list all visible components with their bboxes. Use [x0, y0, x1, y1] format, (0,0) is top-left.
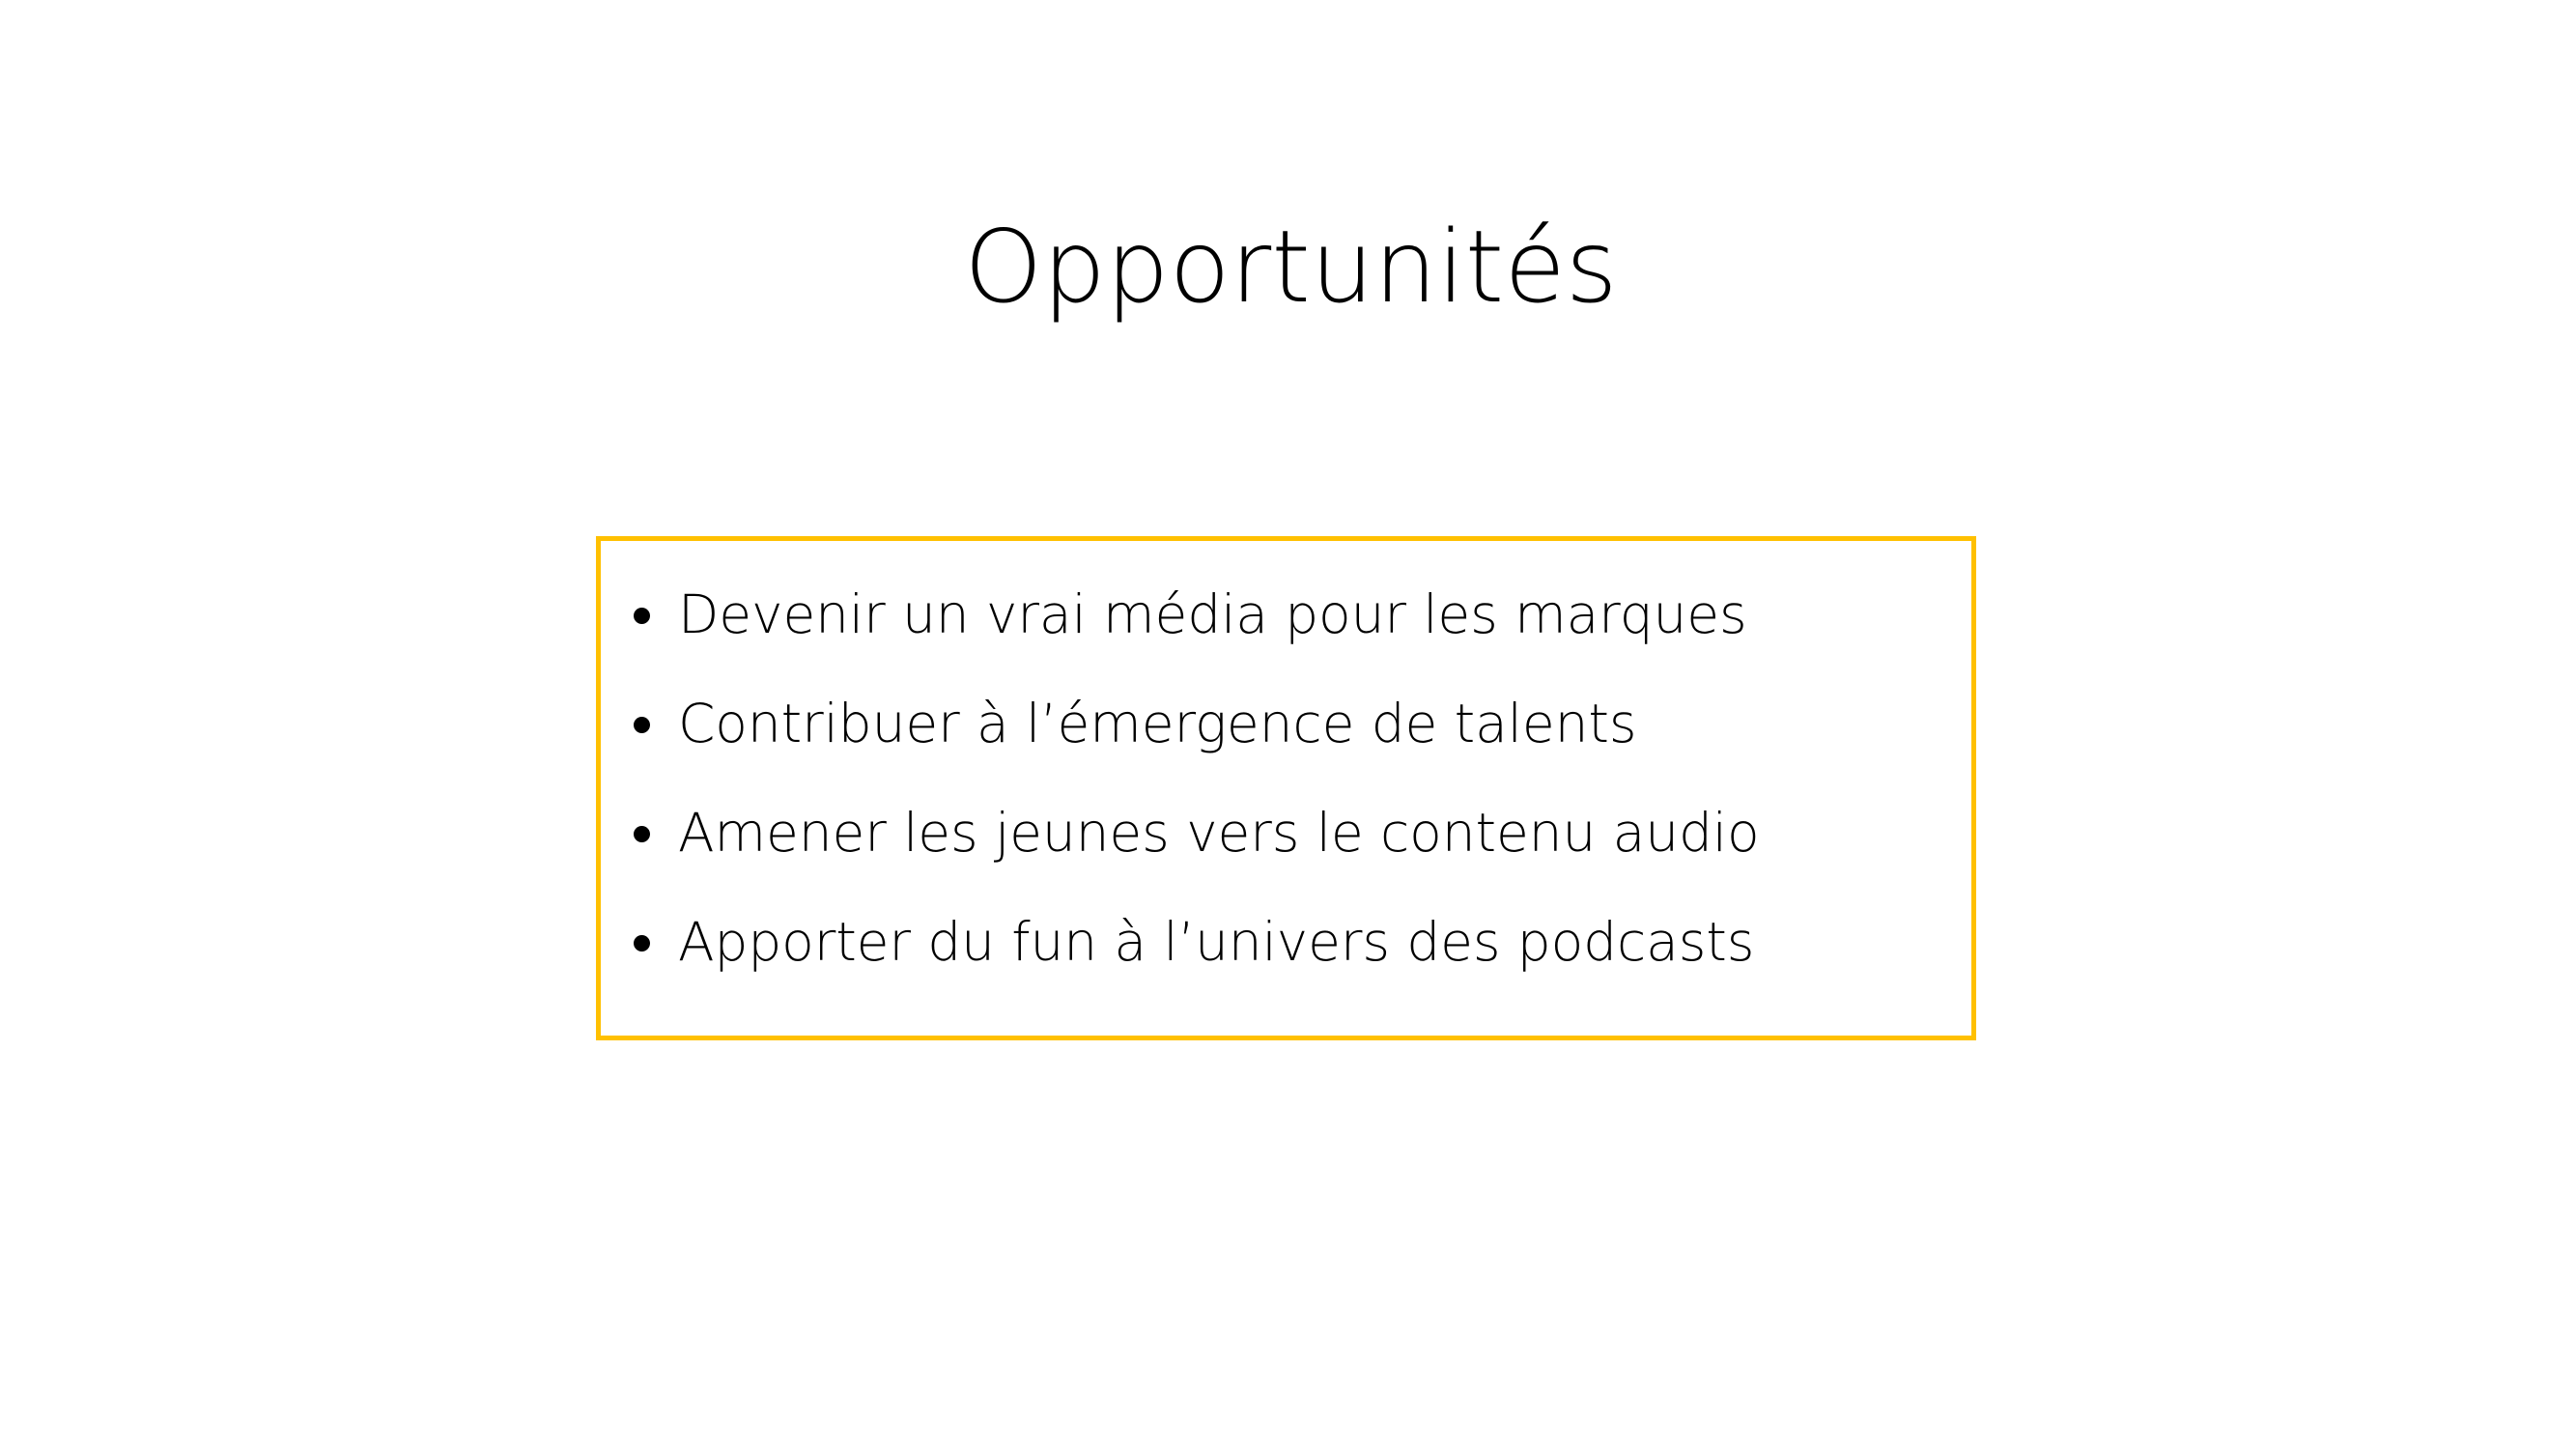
page-title: Opportunités	[3, 210, 2576, 327]
list-item: Amener les jeunes vers le contenu audio	[601, 779, 1971, 888]
list-item-label: Devenir un vrai média pour les marques	[678, 560, 1747, 669]
list-item: Devenir un vrai média pour les marques	[601, 560, 1971, 669]
list-item-label: Amener les jeunes vers le contenu audio	[678, 779, 1760, 888]
bullet-dot-icon	[634, 717, 650, 733]
bullet-dot-icon	[634, 608, 650, 624]
bullet-list: Devenir un vrai média pour les marques C…	[601, 541, 1971, 997]
slide-canvas: Opportunités Devenir un vrai média pour …	[0, 0, 2576, 1449]
list-item-label: Apporter du fun à l’univers des podcasts	[678, 888, 1754, 997]
bulleted-content-box: Devenir un vrai média pour les marques C…	[596, 536, 1976, 1040]
bullet-dot-icon	[634, 826, 650, 842]
bullet-dot-icon	[634, 935, 650, 952]
list-item: Contribuer à l’émergence de talents	[601, 669, 1971, 779]
list-item-label: Contribuer à l’émergence de talents	[678, 669, 1636, 779]
list-item: Apporter du fun à l’univers des podcasts	[601, 888, 1971, 997]
